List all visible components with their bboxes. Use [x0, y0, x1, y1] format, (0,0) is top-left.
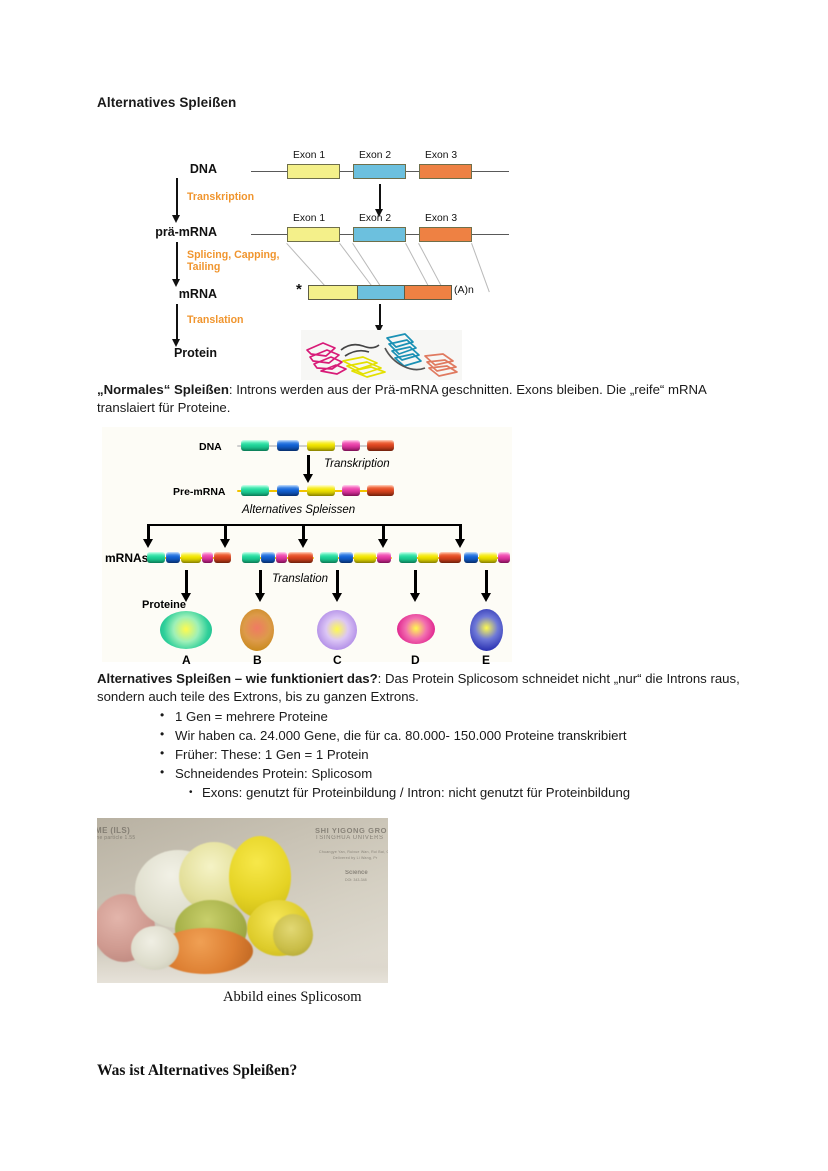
figure2-mrna-d-seg-teal — [399, 552, 417, 563]
photo-overlay-right-citation-1: Chuangye Yan, Ruixue Wan, Rui Bai, Gu — [319, 850, 388, 854]
figure1-label-mrna: mRNA — [127, 287, 217, 301]
paragraph-normales-spleissen: „Normales“ Spleißen: Introns werden aus … — [97, 381, 747, 416]
figure1-exon2-box-dna — [353, 164, 406, 179]
spliceosome-photo: ME (ILS) ine particle 1.55 SHI YIGONG GR… — [97, 818, 388, 983]
photo-caption: Abbild eines Splicosom — [223, 989, 747, 1006]
figure1-process-splicing-line1: Splicing, Capping, — [187, 249, 279, 261]
figure1-exon1-box-dna — [287, 164, 340, 179]
figure2-mrna-e-seg-blue — [464, 552, 478, 563]
figure2-mrna-b-seg-magenta — [276, 552, 287, 563]
figure2-protein-e — [470, 609, 503, 651]
figure2-mrna-a-seg-red — [214, 552, 231, 563]
figure2-process-transkription: Transkription — [324, 458, 390, 470]
paragraph2-lead: Alternatives Spleißen – wie funktioniert… — [97, 671, 378, 686]
figure1-cap-star: * — [296, 281, 302, 298]
figure2-translation-arrow-c — [336, 570, 339, 594]
figure1-mrna-exon2 — [357, 285, 405, 300]
figure1-arrow-translation — [176, 304, 178, 340]
figure1-guide-1 — [286, 243, 327, 288]
figure2-label-mrnas: mRNAs — [105, 551, 148, 565]
figure2-mrna-d-seg-yellow — [418, 552, 438, 563]
list-item: Schneidendes Protein: Splicosom — [97, 764, 747, 783]
figure-classic-splicing: DNA prä-mRNA mRNA Protein Transkription … — [97, 118, 517, 373]
figure2-protein-letter-d: D — [411, 653, 420, 667]
figure2-branch-arrow-1 — [147, 524, 150, 540]
figure1-exon3-box-dna — [419, 164, 472, 179]
figure2-premrna-seg-yellow — [307, 485, 335, 496]
figure2-dna-seg-red — [367, 440, 394, 451]
figure2-dna-seg-blue — [277, 440, 299, 451]
figure1-arrow-dna-to-premrna — [379, 184, 381, 210]
figure2-branch-arrow-2 — [224, 524, 227, 540]
figure2-dna-seg-yellow — [307, 440, 335, 451]
figure2-mrna-b-seg-red — [288, 552, 313, 563]
figure1-exon3-box-premrna — [419, 227, 472, 242]
figure1-protein-structure-image — [301, 330, 462, 380]
bullet-list: 1 Gen = mehrere Proteine Wir haben ca. 2… — [97, 707, 747, 802]
final-heading: Was ist Alternatives Spleißen? — [97, 1062, 747, 1080]
photo-overlay-left-title: ME (ILS) — [97, 826, 130, 835]
figure2-protein-c — [317, 610, 357, 650]
figure2-protein-d — [397, 614, 435, 644]
figure2-premrna-seg-red — [367, 485, 394, 496]
figure1-exon2-label-dna: Exon 2 — [359, 150, 391, 161]
photo-overlay-right-journal-sub: DOI: 343-348 — [345, 878, 367, 882]
figure1-process-splicing: Splicing, Capping,Tailing — [187, 249, 279, 273]
figure1-mrna-exon1 — [308, 285, 358, 300]
figure2-label-pre-mrna: Pre-mRNA — [173, 486, 226, 498]
figure2-translation-arrow-b — [259, 570, 262, 594]
figure2-premrna-seg-blue — [277, 485, 299, 496]
photo-overlay-left-sub: ine particle 1.55 — [97, 835, 135, 841]
figure2-dna-seg-teal — [241, 440, 269, 451]
model-blob-white-bottom-left — [131, 926, 179, 970]
figure2-protein-letter-b: B — [253, 653, 262, 667]
figure2-translation-arrow-a — [185, 570, 188, 594]
figure1-arrow-splicing — [176, 242, 178, 280]
figure2-branch-arrow-4 — [382, 524, 385, 540]
figure1-mrna-exon3 — [404, 285, 452, 300]
figure1-exon1-box-premrna — [287, 227, 340, 242]
figure1-label-dna: DNA — [137, 162, 217, 176]
figure1-process-translation: Translation — [187, 314, 244, 326]
figure2-mrna-d-seg-red — [439, 552, 461, 563]
figure2-mrna-a-seg-teal — [147, 552, 165, 563]
figure1-arrow-mrna-to-protein — [379, 304, 381, 326]
list-item: 1 Gen = mehrere Proteine — [97, 707, 747, 726]
figure2-branch-arrow-5 — [459, 524, 462, 540]
protein-ribbon-svg — [301, 330, 462, 380]
figure2-protein-a — [160, 611, 212, 649]
list-item: Wir haben ca. 24.000 Gene, die für ca. 8… — [97, 726, 747, 745]
figure1-exon1-label-dna: Exon 1 — [293, 150, 325, 161]
figure2-mrna-e-seg-magenta — [498, 552, 510, 563]
figure2-mrna-e-seg-yellow — [479, 552, 497, 563]
paragraph1-lead: „Normales“ Spleißen — [97, 382, 229, 397]
figure1-exon2-label-premrna: Exon 2 — [359, 213, 391, 224]
figure2-mrna-a-seg-magenta — [202, 552, 213, 563]
figure2-protein-b — [240, 609, 274, 651]
photo-overlay-right-journal: Science — [345, 870, 368, 876]
model-blob-olive-right — [273, 914, 313, 956]
figure2-premrna-seg-magenta — [342, 485, 360, 496]
list-item-sub: Exons: genutzt für Proteinbildung / Intr… — [97, 783, 747, 802]
figure2-mrna-b-seg-teal — [242, 552, 260, 563]
figure2-premrna-seg-teal — [241, 485, 269, 496]
figure1-exon2-box-premrna — [353, 227, 406, 242]
figure1-label-pre-mrna: prä-mRNA — [107, 225, 217, 239]
photo-overlay-right-sub: TSINGHUA UNIVERS — [315, 835, 384, 841]
figure2-mrna-c-seg-yellow — [354, 552, 376, 563]
figure2-process-translation: Translation — [272, 573, 328, 585]
figure2-translation-arrow-d — [414, 570, 417, 594]
figure2-mrna-a-seg-blue — [166, 552, 180, 563]
document-content: Alternatives Spleißen DNA prä-mRNA mRNA … — [97, 95, 747, 1080]
page-title: Alternatives Spleißen — [97, 95, 747, 110]
figure1-arrow-transkription — [176, 178, 178, 216]
figure2-label-dna: DNA — [199, 441, 222, 453]
figure1-poly-a-label: (A)n — [454, 284, 474, 296]
list-item: Früher: These: 1 Gen = 1 Protein — [97, 745, 747, 764]
figure1-process-transkription: Transkription — [187, 191, 254, 203]
figure2-mrna-c-seg-teal — [320, 552, 338, 563]
figure2-label-proteine: Proteine — [142, 599, 186, 611]
figure1-exon1-label-premrna: Exon 1 — [293, 213, 325, 224]
paragraph-alternatives-spleissen: Alternatives Spleißen – wie funktioniert… — [97, 670, 747, 705]
figure1-process-splicing-line2: Tailing — [187, 261, 220, 273]
figure2-process-alternatives: Alternatives Spleissen — [242, 504, 355, 516]
figure2-translation-arrow-e — [485, 570, 488, 594]
figure2-branch-arrow-3 — [302, 524, 305, 540]
figure2-mrna-c-seg-magenta — [377, 552, 391, 563]
figure2-mrna-a-seg-yellow — [181, 552, 201, 563]
photo-overlay-right-citation-2: Delivered by Li Wang, Pr — [333, 856, 377, 860]
figure2-protein-letter-c: C — [333, 653, 342, 667]
figure2-protein-letter-e: E — [482, 653, 490, 667]
figure2-mrna-b-seg-blue — [261, 552, 275, 563]
figure2-mrna-c-seg-blue — [339, 552, 353, 563]
figure1-label-protein: Protein — [122, 346, 217, 360]
document-page: Alternatives Spleißen DNA prä-mRNA mRNA … — [0, 0, 828, 1171]
figure2-dna-seg-magenta — [342, 440, 360, 451]
figure2-arrow-transkription — [307, 455, 310, 475]
figure1-exon3-label-premrna: Exon 3 — [425, 213, 457, 224]
photo-overlay-right-title: SHI YIGONG GRO — [315, 826, 387, 835]
figure-alternative-splicing: DNA Transkription Pre-mRNA Alternatives … — [102, 427, 512, 662]
figure1-exon3-label-dna: Exon 3 — [425, 150, 457, 161]
figure2-protein-letter-a: A — [182, 653, 191, 667]
